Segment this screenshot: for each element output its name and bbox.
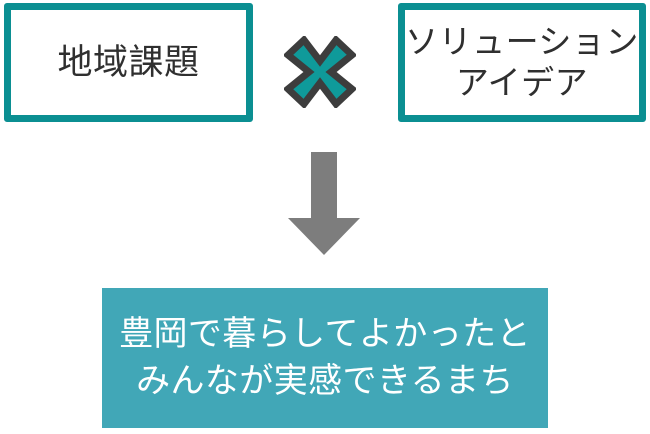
outcome-banner-label: 豊岡で暮らしてよかったと みんなが実感できるまち <box>119 311 531 405</box>
concept-box-solution: ソリューション アイデア <box>398 3 646 122</box>
concept-box-issue-label: 地域課題 <box>57 42 199 83</box>
concept-box-solution-label: ソリューション アイデア <box>405 22 639 103</box>
outcome-banner: 豊岡で暮らしてよかったと みんなが実感できるまち <box>102 288 548 428</box>
arrow-down-icon <box>286 152 362 256</box>
concept-box-issue: 地域課題 <box>4 3 253 122</box>
diagram-canvas: 地域課題 ソリューション アイデア 豊岡で暮らしてよかったと みんなが実感できる… <box>0 0 650 434</box>
multiply-x-icon <box>284 36 356 108</box>
